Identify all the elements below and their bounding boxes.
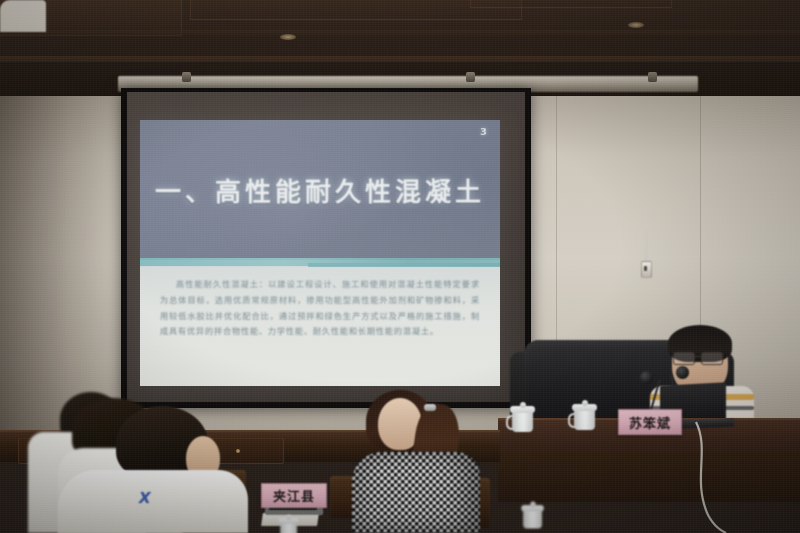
teacup [572, 400, 598, 430]
microphone-icon [640, 371, 653, 384]
microphone-icon [676, 366, 689, 379]
sensor-lens-icon [644, 266, 647, 271]
teacup-knob [530, 502, 535, 507]
name-placard-speaker: 苏笨斌 [618, 409, 682, 435]
teacup-body [523, 509, 542, 529]
shirt-logo-x: X [139, 489, 151, 507]
attendee-shirt [58, 470, 248, 533]
roller-bracket [182, 72, 191, 82]
slide-body-area: 高性能耐久性混凝土：以建设工程设计、施工和使用对混凝土性能特定要求为总体目标，选… [140, 267, 500, 386]
glasses-lens-right [701, 352, 723, 365]
roller-bracket [648, 72, 657, 82]
slide-body-text: 高性能耐久性混凝土：以建设工程设计、施工和使用对混凝土性能特定要求为总体目标，选… [160, 277, 480, 340]
downlight-icon [628, 22, 644, 28]
glasses-icon [673, 352, 723, 363]
teacup-knob [582, 400, 588, 406]
glasses-bridge [693, 356, 701, 357]
teacup-body [512, 410, 533, 432]
ceiling-beam [0, 30, 800, 38]
teacup [521, 502, 544, 529]
roller-bracket [466, 72, 475, 82]
slide-title: 一、高性能耐久性混凝土 [140, 172, 500, 209]
speaker [0, 0, 46, 32]
projected-slide: 高性能耐久性混凝土：以建设工程设计、施工和使用对混凝土性能特定要求为总体目标，选… [140, 120, 500, 386]
glasses-lens-left [673, 352, 695, 365]
presentation-photo: 高性能耐久性混凝土：以建设工程设计、施工和使用对混凝土性能特定要求为总体目标，选… [0, 0, 800, 533]
wall-shadow-left [0, 96, 128, 436]
conduit [645, 230, 647, 262]
teacup [279, 515, 300, 533]
speaker-arm [0, 0, 46, 32]
slide-number: 3 [480, 127, 487, 138]
teacup-knob [520, 402, 526, 408]
teacup-knob [287, 515, 292, 520]
hair-tie [424, 404, 436, 411]
cable [690, 420, 770, 533]
desk-stud [236, 449, 240, 453]
attendee-houndstooth-top [352, 452, 480, 533]
ceiling-panel [470, 0, 672, 8]
downlight-icon [280, 34, 296, 40]
teacup-body [574, 408, 595, 430]
teacup [510, 402, 536, 432]
name-placard-county: 夹江县 [261, 483, 327, 508]
